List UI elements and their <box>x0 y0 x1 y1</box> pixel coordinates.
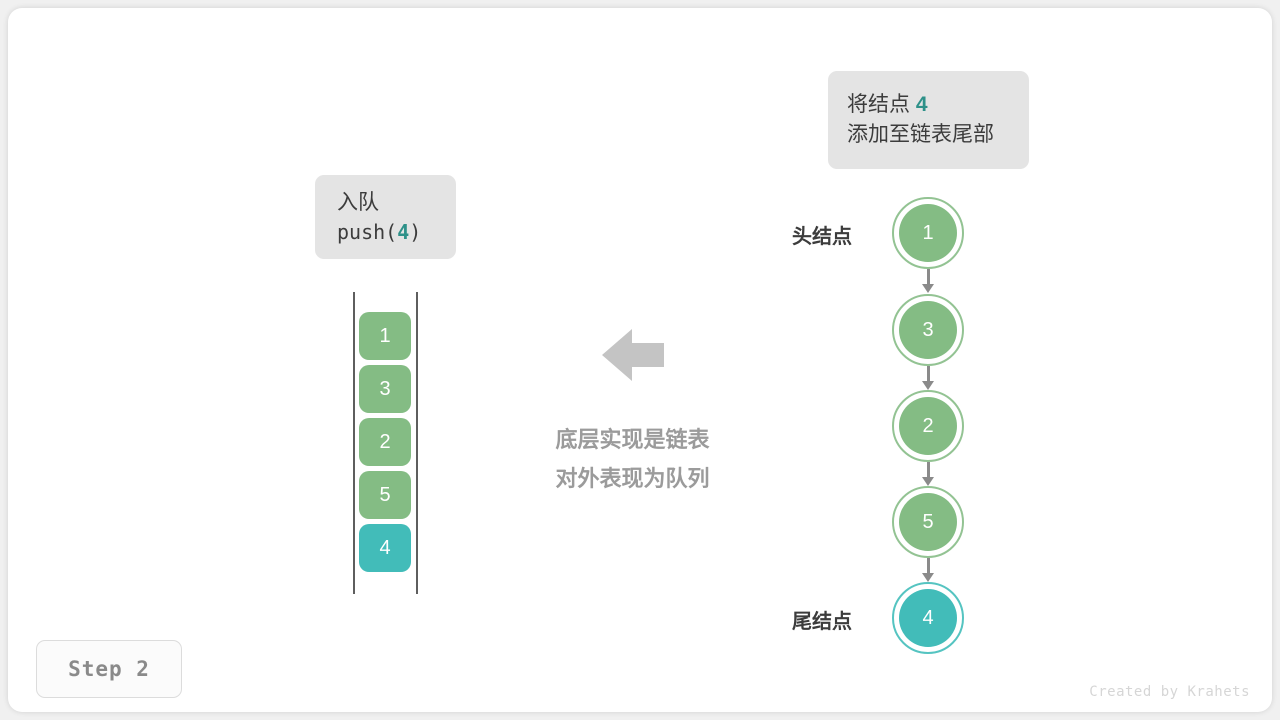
list-node: 2 <box>892 390 964 462</box>
callout-append-value: 4 <box>916 93 928 116</box>
list-node-value: 1 <box>922 222 933 245</box>
queue-rail-right <box>416 292 418 594</box>
list-link-arrow <box>924 462 932 487</box>
list-node-disc: 3 <box>899 301 957 359</box>
list-link-arrow <box>924 558 932 583</box>
list-node-disc: 1 <box>899 204 957 262</box>
callout-push-line1: 入队 <box>337 188 434 218</box>
queue-item-value: 1 <box>379 325 390 348</box>
callout-append-line1: 将结点 4 <box>847 90 1010 120</box>
center-explanation-note: 底层实现是链表 对外表现为队列 <box>522 420 743 498</box>
figure-canvas: 入队 push(4) 将结点 4 添加至链表尾部 底层实现是链表 对外表现为队列… <box>8 8 1272 712</box>
step-badge: Step 2 <box>36 640 182 698</box>
queue-item: 5 <box>359 471 411 519</box>
list-node-value: 4 <box>922 607 933 630</box>
queue-item: 3 <box>359 365 411 413</box>
callout-push-operation: 入队 push(4) <box>315 175 456 259</box>
callout-push-line2: push(4) <box>337 218 434 246</box>
list-link-arrow <box>924 269 932 294</box>
queue-item-highlighted: 4 <box>359 524 411 572</box>
callout-append-node: 将结点 4 添加至链表尾部 <box>828 71 1029 169</box>
queue-item-value: 2 <box>379 431 390 454</box>
list-node: 1 <box>892 197 964 269</box>
list-node-disc: 4 <box>899 589 957 647</box>
callout-append-prefix: 将结点 <box>847 93 916 116</box>
queue-item-value: 5 <box>379 484 390 507</box>
credit-text: Created by Krahets <box>1089 684 1250 700</box>
list-node-disc: 2 <box>899 397 957 455</box>
callout-append-line2: 添加至链表尾部 <box>847 120 1010 150</box>
left-arrow-icon <box>602 327 664 383</box>
callout-push-prefix: push( <box>337 220 397 244</box>
queue-rail-left <box>353 292 355 594</box>
callout-push-suffix: ) <box>409 220 421 244</box>
queue-item: 1 <box>359 312 411 360</box>
list-node-value: 2 <box>922 415 933 438</box>
list-node-highlighted: 4 <box>892 582 964 654</box>
list-node-value: 3 <box>922 319 933 342</box>
queue-item-value: 3 <box>379 378 390 401</box>
queue-item-value: 4 <box>379 537 390 560</box>
queue-container: 1 3 2 5 4 <box>353 292 418 594</box>
list-node: 3 <box>892 294 964 366</box>
callout-push-value: 4 <box>397 220 409 244</box>
center-note-line2: 对外表现为队列 <box>522 459 743 498</box>
head-node-label: 头结点 <box>792 220 852 249</box>
list-node-disc: 5 <box>899 493 957 551</box>
list-node: 5 <box>892 486 964 558</box>
tail-node-label: 尾结点 <box>792 605 852 634</box>
center-note-line1: 底层实现是链表 <box>522 420 743 459</box>
queue-item: 2 <box>359 418 411 466</box>
list-link-arrow <box>924 366 932 391</box>
linked-list-container: 1 3 2 5 4 <box>892 197 964 653</box>
queue-items-list: 1 3 2 5 4 <box>359 312 411 577</box>
list-node-value: 5 <box>922 511 933 534</box>
